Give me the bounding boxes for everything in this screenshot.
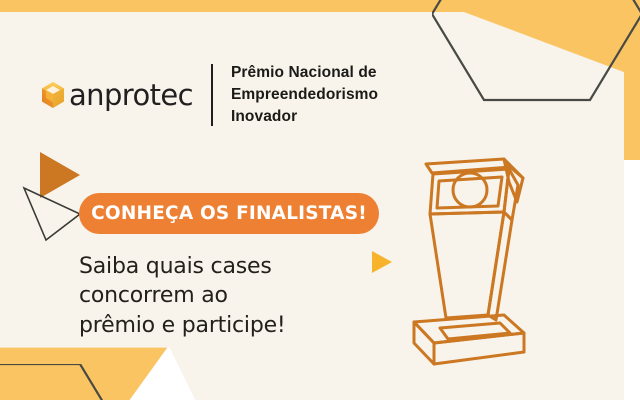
dark-hexagon-outline-top-right: [432, 0, 640, 103]
amber-play-triangle-icon: [372, 251, 392, 273]
anprotec-hexagon-logo-mark: [38, 80, 68, 110]
anprotec-logo[interactable]: anprotec: [38, 80, 193, 110]
cta-button-label: CONHEÇA OS FINALISTAS!: [91, 203, 367, 224]
banner-header: anprotec Prêmio Nacional de Empreendedor…: [38, 62, 378, 128]
subheadline-text: Saiba quais cases concorrem ao prêmio e …: [79, 252, 286, 340]
promotional-banner: anprotec Prêmio Nacional de Empreendedor…: [0, 0, 640, 400]
dark-outline-triangle-icon: [22, 186, 84, 242]
cta-button[interactable]: CONHEÇA OS FINALISTAS!: [79, 193, 379, 234]
podium-lectern-illustration: [392, 140, 557, 370]
dark-hexagon-outline-bottom-left: [0, 364, 132, 400]
anprotec-wordmark: anprotec: [69, 81, 193, 110]
page-title: Prêmio Nacional de Empreendedorismo Inov…: [231, 62, 378, 128]
vertical-divider: [211, 64, 213, 126]
